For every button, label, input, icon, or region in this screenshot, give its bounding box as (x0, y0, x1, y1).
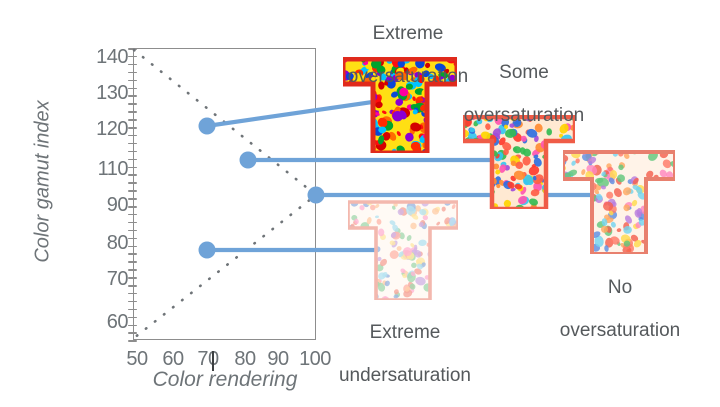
garment-no-oversaturation[interactable] (563, 150, 675, 254)
y-tick-80: 80 (82, 232, 128, 255)
caption-line-1: No (545, 277, 695, 298)
y-axis-minor-ticks (128, 48, 138, 340)
y-tick-120: 120 (82, 118, 128, 141)
y-tick-140: 140 (82, 46, 128, 69)
y-axis-tick-labels: 14013012011090807060 (82, 0, 128, 405)
caption-line-2: oversaturation (449, 105, 599, 126)
y-tick-70: 70 (82, 268, 128, 291)
data-point-extreme-undersaturation[interactable] (199, 242, 216, 259)
x-axis-title: Color rendering (120, 368, 330, 392)
caption-some-oversaturation: Some oversaturation (449, 41, 599, 147)
y-axis-title: Color gamut index (32, 87, 55, 277)
kimono-icon (563, 150, 675, 254)
caption-no-oversaturation: No oversaturation (545, 256, 695, 362)
caption-line-1: Extreme (330, 322, 480, 343)
data-point-extreme-oversaturation[interactable] (199, 118, 216, 135)
kimono-icon (348, 200, 458, 300)
caption-extreme-undersaturation: Extreme undersaturation (330, 301, 480, 407)
caption-line-2: undersaturation (330, 365, 480, 386)
data-point-no-oversaturation[interactable] (308, 187, 325, 204)
y-tick-90: 90 (82, 194, 128, 217)
garment-extreme-undersaturation[interactable] (348, 200, 458, 300)
y-tick-130: 130 (82, 82, 128, 105)
figure-canvas: 14013012011090807060 5060708090100 Color… (0, 0, 720, 405)
plot-frame (133, 48, 316, 340)
y-tick-110: 110 (82, 158, 128, 181)
y-tick-60: 60 (82, 311, 128, 334)
caption-line-1: Some (449, 62, 599, 83)
caption-line-2: oversaturation (545, 320, 695, 341)
data-point-some-oversaturation[interactable] (240, 152, 257, 169)
